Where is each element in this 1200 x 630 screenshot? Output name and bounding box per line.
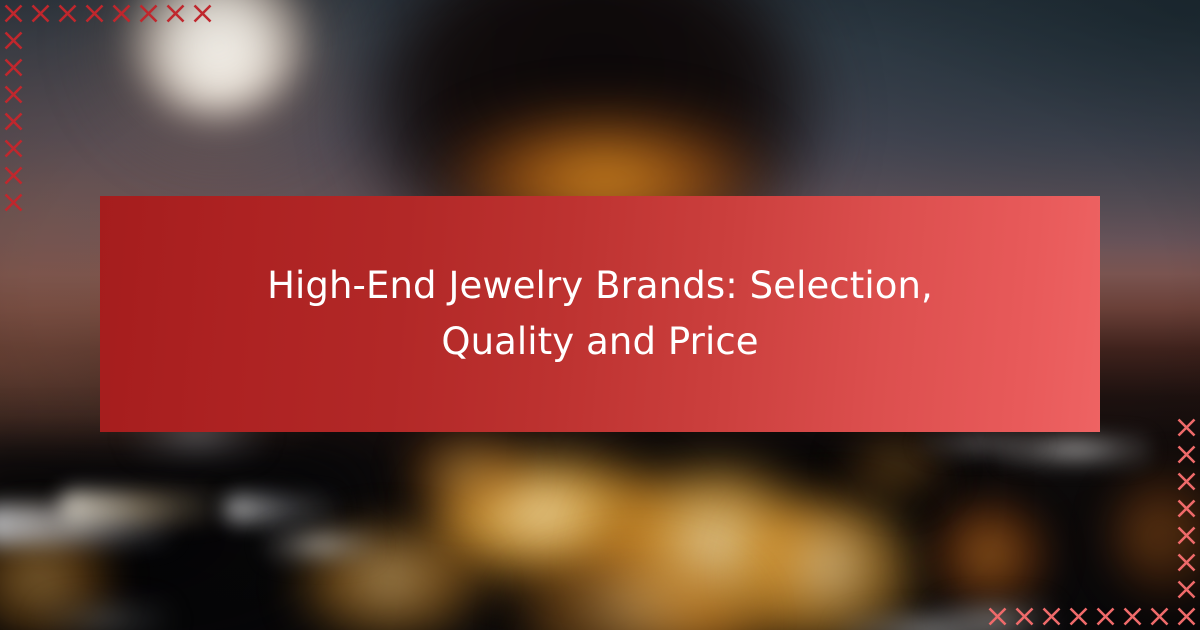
title-banner: High-End Jewelry Brands: Selection, Qual…	[100, 196, 1100, 432]
page-title: High-End Jewelry Brands: Selection, Qual…	[220, 258, 980, 370]
share-card: High-End Jewelry Brands: Selection, Qual…	[0, 0, 1200, 630]
